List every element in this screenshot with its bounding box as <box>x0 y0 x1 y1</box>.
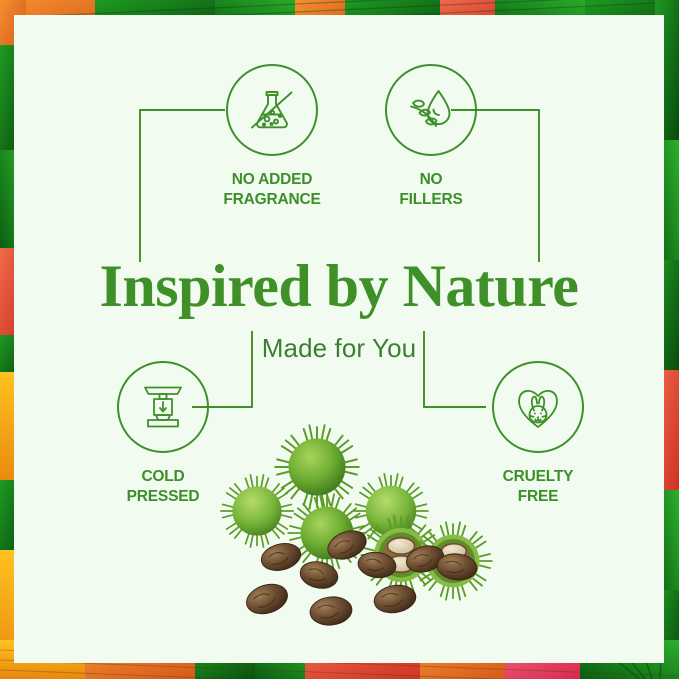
castor-seed <box>258 540 303 575</box>
bunny-heart-icon <box>509 378 567 436</box>
badge-circle-cold-pressed <box>117 361 209 453</box>
badge-label-no-added-fragrance: NO ADDED FRAGRANCE <box>197 170 347 210</box>
badge-label-cold-pressed: COLD PRESSED <box>88 467 238 507</box>
badge-circle-no-fillers <box>385 64 477 156</box>
badge-no-added-fragrance: NO ADDED FRAGRANCE <box>197 64 347 210</box>
page-subtitle: Made for You <box>14 333 664 364</box>
press-machine-icon <box>134 378 192 436</box>
infographic-poster: NO ADDED FRAGRANCE <box>0 0 679 679</box>
castor-seed <box>372 582 418 616</box>
headline-block: Inspired by Nature Made for You <box>14 255 664 364</box>
castor-pod <box>275 425 359 509</box>
flask-no-fragrance-icon <box>243 81 301 139</box>
castor-seed <box>243 579 292 619</box>
castor-pod <box>221 475 293 547</box>
badge-no-fillers: NO FILLERS <box>356 64 506 210</box>
droplet-leaf-icon <box>402 81 460 139</box>
badge-cold-pressed: COLD PRESSED <box>88 361 238 507</box>
badge-label-no-fillers: NO FILLERS <box>356 170 506 210</box>
castor-bean-artwork <box>219 415 494 650</box>
castor-seed <box>298 558 341 591</box>
page-title: Inspired by Nature <box>14 255 664 319</box>
badge-circle-no-added-fragrance <box>226 64 318 156</box>
castor-seed <box>309 595 354 627</box>
content-panel: NO ADDED FRAGRANCE <box>14 15 664 663</box>
badge-circle-cruelty-free <box>492 361 584 453</box>
